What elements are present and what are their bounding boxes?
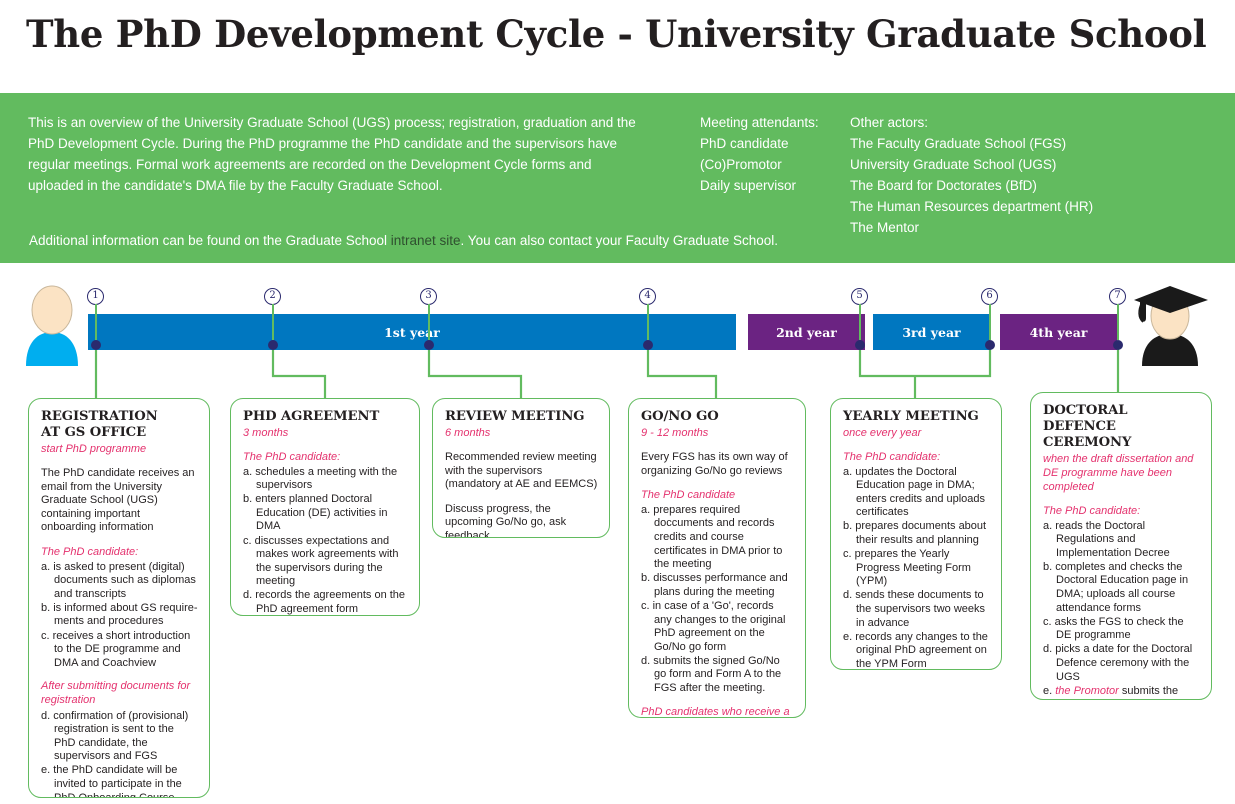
marker-dot — [268, 340, 278, 350]
marker-dot — [1113, 340, 1123, 350]
card-paragraph: Every FGS has its own way of organizing … — [641, 451, 794, 478]
marker-stalk — [272, 304, 274, 340]
card-review-meeting[interactable]: REVIEW MEETING 6 months Recommended revi… — [432, 398, 610, 538]
actor-item: The Faculty Graduate School (FGS) — [850, 133, 1230, 154]
card-go-no-go[interactable]: GO/NO GO 9 - 12 months Every FGS has its… — [628, 398, 806, 718]
card-step-list: a. schedules a meeting with the supervis… — [243, 466, 408, 616]
card-step-item: d. picks a date for the Doctoral Defence… — [1043, 643, 1200, 684]
marker-number: 4 — [639, 288, 656, 305]
timeline-bar-3rd-year: 3rd year — [873, 314, 990, 350]
attendant-item: Daily supervisor — [700, 175, 850, 196]
marker-number: 7 — [1109, 288, 1126, 305]
student-person-icon — [18, 284, 86, 366]
footer-text-before: Additional information can be found on t… — [29, 233, 391, 248]
timeline-bar-label: 4th year — [1030, 325, 1088, 340]
card-step-item: a. updates the Doctoral Education page i… — [843, 466, 990, 520]
card-doctoral-defence[interactable]: DOCTORAL DEFENCE CEREMONY when the draft… — [1030, 392, 1212, 700]
card-paragraph: Discuss progress, the upcoming Go/No go,… — [445, 503, 598, 538]
marker-number: 1 — [87, 288, 104, 305]
graduate-person-icon — [1132, 282, 1214, 366]
meeting-attendants-heading: Meeting attendants: — [700, 112, 850, 133]
card-heading: GO/NO GO — [641, 409, 794, 425]
card-heading: YEARLY MEETING — [843, 409, 990, 425]
card-emphasis-text: The PhD candidate: — [243, 451, 408, 465]
card-step-item: a. schedules a meeting with the supervis… — [243, 466, 408, 493]
card-paragraph: The PhD candidate receives an email from… — [41, 467, 198, 535]
marker-stalk — [1117, 304, 1119, 340]
card-registration[interactable]: REGISTRATION AT GS OFFICE start PhD prog… — [28, 398, 210, 798]
card-step-item: a. is asked to present (digital) documen… — [41, 561, 198, 602]
card-step-item: c. in case of a 'Go', records any change… — [641, 600, 794, 654]
card-heading: DOCTORAL DEFENCE CEREMONY — [1043, 403, 1200, 451]
page-title: The PhD Development Cycle - University G… — [26, 8, 1206, 68]
timeline-bar-label: 3rd year — [902, 325, 960, 340]
marker-stalk — [95, 304, 97, 340]
card-step-item: b. prepares documents about their result… — [843, 520, 990, 547]
card-heading: PHD AGREEMENT — [243, 409, 408, 425]
actor-item: The Board for Doctorates (BfD) — [850, 175, 1230, 196]
card-step-list: a. reads the Doctoral Regulations and Im… — [1043, 520, 1200, 700]
overview-banner: This is an overview of the University Gr… — [0, 93, 1235, 263]
card-step-list: a. updates the Doctoral Education page i… — [843, 466, 990, 670]
card-step-item: b. is informed about GS require-ments an… — [41, 602, 198, 629]
card-heading: REGISTRATION AT GS OFFICE — [41, 409, 198, 441]
card-step-item: e. the Promotor submits the forms B - D … — [1043, 685, 1200, 700]
card-step-item: c. receives a short introduction to the … — [41, 630, 198, 671]
card-step-item: b. discusses performance and plans durin… — [641, 572, 794, 599]
marker-dot — [424, 340, 434, 350]
infographic-page: The PhD Development Cycle - University G… — [0, 0, 1235, 804]
card-emphasis-text: PhD candidates who receive a No go are a… — [641, 706, 794, 718]
card-subtitle: when the draft dissertation and DE progr… — [1043, 452, 1200, 494]
marker-dot — [91, 340, 101, 350]
card-step-item: a. reads the Doctoral Regulations and Im… — [1043, 520, 1200, 561]
actor-item: The Human Resources department (HR) — [850, 196, 1230, 217]
timeline-bar-1st-year: 1st year — [88, 314, 736, 350]
banner-footer: Additional information can be found on t… — [29, 231, 1199, 250]
card-subtitle: 9 - 12 months — [641, 426, 794, 440]
card-emphasis-text: The PhD candidate: — [843, 451, 990, 465]
card-step-item: e. records any changes to the original P… — [843, 631, 990, 670]
marker-number: 6 — [981, 288, 998, 305]
card-step-item: c. prepares the Yearly Progress Meeting … — [843, 548, 990, 589]
other-actors-column: Other actors: The Faculty Graduate Schoo… — [850, 112, 1230, 238]
card-step-list: a. is asked to present (digital) documen… — [41, 561, 198, 671]
card-emphasis-text: The PhD candidate: — [41, 546, 198, 560]
banner-intro-text: This is an overview of the University Gr… — [28, 112, 648, 196]
other-actors-heading: Other actors: — [850, 112, 1230, 133]
timeline-bar-label: 2nd year — [776, 325, 837, 340]
attendant-item: PhD candidate — [700, 133, 850, 154]
marker-stalk — [647, 304, 649, 340]
actor-item: University Graduate School (UGS) — [850, 154, 1230, 175]
intranet-site-link[interactable]: intranet site — [391, 233, 461, 248]
card-emphasis-text: The PhD candidate: — [1043, 505, 1200, 519]
card-step-item: d. submits the signed Go/No go form and … — [641, 655, 794, 696]
attendant-item: (Co)Promotor — [700, 154, 850, 175]
marker-dot — [855, 340, 865, 350]
card-yearly-meeting[interactable]: YEARLY MEETING once every year The PhD c… — [830, 398, 1002, 670]
card-body: The PhD candidate:a. schedules a meeting… — [243, 451, 408, 616]
card-step-item: c. discusses expectations and makes work… — [243, 535, 408, 589]
marker-dot — [985, 340, 995, 350]
card-body: The PhD candidate:a. updates the Doctora… — [843, 451, 990, 670]
card-step-item: d. sends these documents to the supervis… — [843, 589, 990, 630]
timeline-bar-2nd-year: 2nd year — [748, 314, 865, 350]
marker-number: 5 — [851, 288, 868, 305]
card-emphasis-text: After submitting documents for registrat… — [41, 680, 198, 707]
card-step-item: a. prepares required doccuments and reco… — [641, 504, 794, 572]
card-step-item: c. asks the FGS to check the DE programm… — [1043, 616, 1200, 643]
card-paragraph: Recommended review meeting with the supe… — [445, 451, 598, 492]
meeting-attendants-column: Meeting attendants: PhD candidate (Co)Pr… — [700, 112, 850, 196]
marker-stalk — [859, 304, 861, 340]
card-heading: REVIEW MEETING — [445, 409, 598, 425]
timeline-bar-label: 1st year — [384, 325, 440, 340]
card-step-item: b. enters planned Doctoral Education (DE… — [243, 493, 408, 534]
marker-stalk — [989, 304, 991, 340]
card-step-item: b. completes and checks the Doctoral Edu… — [1043, 561, 1200, 615]
card-phd-agreement[interactable]: PHD AGREEMENT 3 months The PhD candidate… — [230, 398, 420, 616]
timeline-bar-4th-year: 4th year — [1000, 314, 1117, 350]
card-body: Recommended review meeting with the supe… — [445, 451, 598, 538]
marker-number: 3 — [420, 288, 437, 305]
marker-number: 2 — [264, 288, 281, 305]
marker-dot — [643, 340, 653, 350]
footer-text-after: . You can also contact your Faculty Grad… — [461, 233, 778, 248]
card-subtitle: 6 months — [445, 426, 598, 440]
card-step-item: d. records the agreements on the PhD agr… — [243, 589, 408, 616]
card-subtitle: start PhD programme — [41, 442, 198, 456]
card-subtitle: once every year — [843, 426, 990, 440]
marker-stalk — [428, 304, 430, 340]
card-step-list: a. prepares required doccuments and reco… — [641, 504, 794, 696]
card-body: Every FGS has its own way of organizing … — [641, 451, 794, 718]
card-step-item: e. the PhD candidate will be invited to … — [41, 764, 198, 798]
card-step-list: d. confirmation of (provisional) registr… — [41, 710, 198, 799]
card-body: The PhD candidate:a. reads the Doctoral … — [1043, 505, 1200, 700]
card-subtitle: 3 months — [243, 426, 408, 440]
card-body: The PhD candidate receives an email from… — [41, 467, 198, 798]
card-step-item: d. confirmation of (provisional) registr… — [41, 710, 198, 764]
card-emphasis-text: The PhD candidate — [641, 489, 794, 503]
